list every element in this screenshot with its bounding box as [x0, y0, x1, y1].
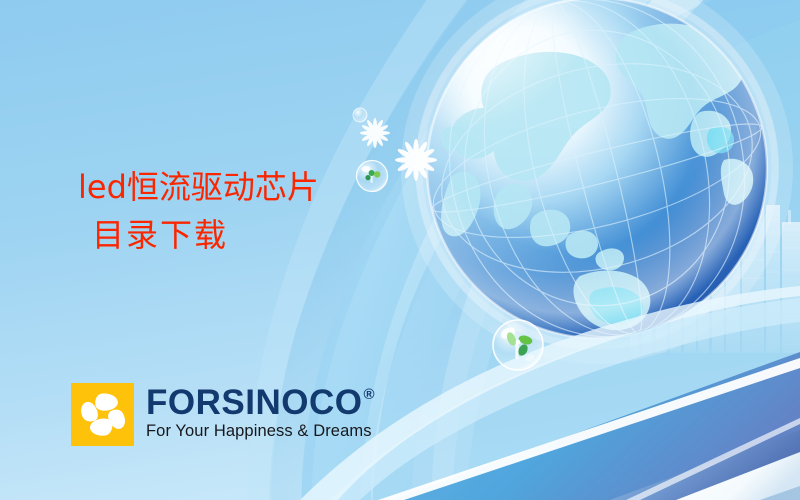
brand-tagline: For Your Happiness & Dreams [146, 422, 375, 441]
bubble-windmill-small [357, 161, 388, 192]
pinwheel-petals-icon [71, 383, 134, 446]
forsinoco-pinwheel-logo [71, 383, 134, 446]
brand-name-row: FORSINOCO ® [146, 386, 375, 419]
bubble-windmill-large [493, 320, 543, 370]
brand-logo-lockup: FORSINOCO ® For Your Happiness & Dreams [71, 383, 375, 446]
brand-text-block: FORSINOCO ® For Your Happiness & Dreams [146, 383, 375, 441]
registered-trademark-icon: ® [363, 387, 374, 402]
brand-name: FORSINOCO [146, 386, 362, 419]
starburst-flower-small [360, 118, 390, 148]
starburst-flower-large [395, 139, 437, 181]
bubble-tiny [353, 108, 367, 122]
promo-banner: led恒流驱动芯片 目录下载 FORSINOCO [0, 0, 800, 500]
